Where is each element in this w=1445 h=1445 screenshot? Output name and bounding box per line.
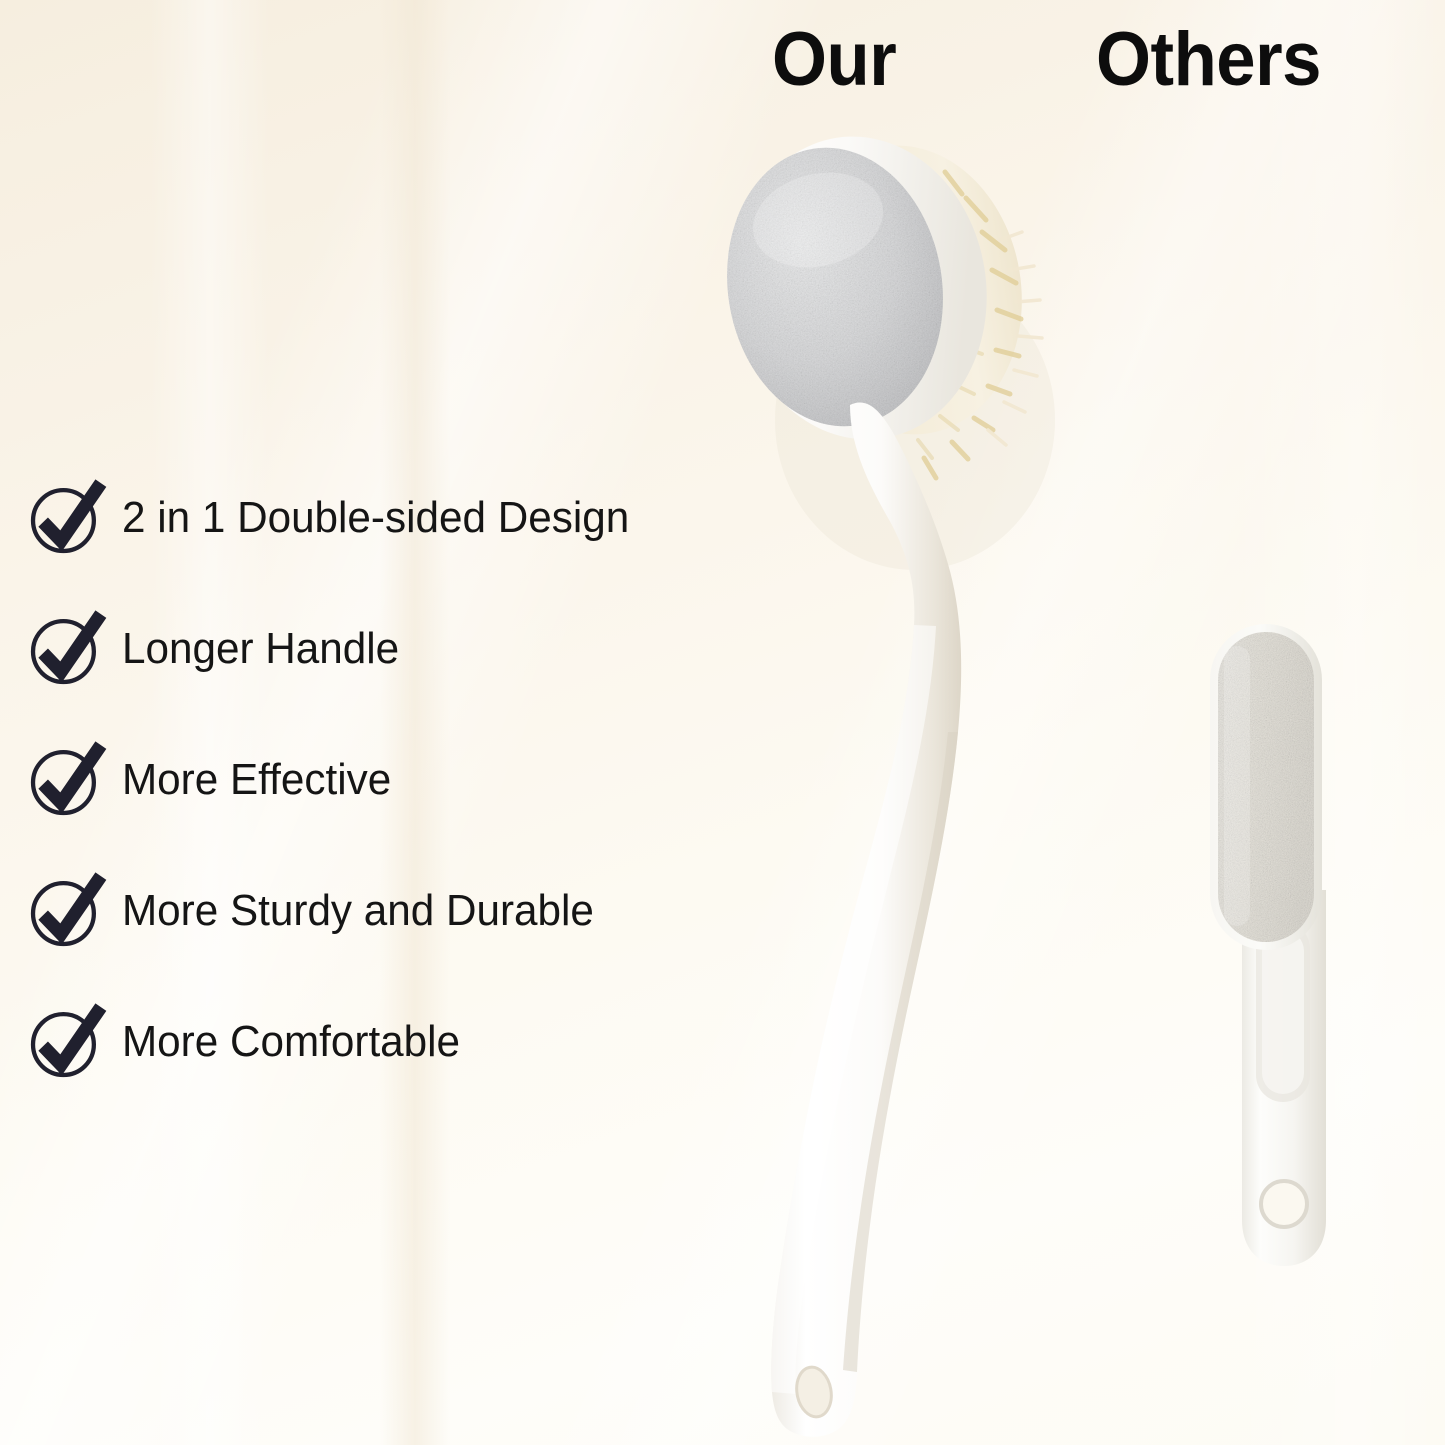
others-product-image	[1180, 590, 1410, 1280]
our-product-image	[700, 120, 1100, 1445]
check-circle-icon	[26, 480, 104, 558]
feature-item: More Effective	[26, 742, 756, 873]
feature-label: Longer Handle	[122, 615, 399, 683]
feature-label: 2 in 1 Double-sided Design	[122, 484, 629, 552]
column-header-our: Our	[772, 22, 896, 98]
feature-label: More Effective	[122, 746, 391, 814]
feature-item: More Comfortable	[26, 1004, 756, 1135]
check-circle-icon	[26, 1004, 104, 1082]
feature-item: More Sturdy and Durable	[26, 873, 756, 1004]
feature-list: 2 in 1 Double-sided Design Longer Handle…	[26, 480, 756, 1135]
product-comparison-image: Our Others 2 in 1 Double-sided Design Lo…	[0, 0, 1445, 1445]
feature-item: Longer Handle	[26, 611, 756, 742]
check-circle-icon	[26, 611, 104, 689]
feature-label: More Sturdy and Durable	[122, 877, 594, 945]
check-circle-icon	[26, 873, 104, 951]
column-header-others: Others	[1096, 22, 1321, 98]
feature-item: 2 in 1 Double-sided Design	[26, 480, 756, 611]
check-circle-icon	[26, 742, 104, 820]
feature-label: More Comfortable	[122, 1008, 460, 1076]
